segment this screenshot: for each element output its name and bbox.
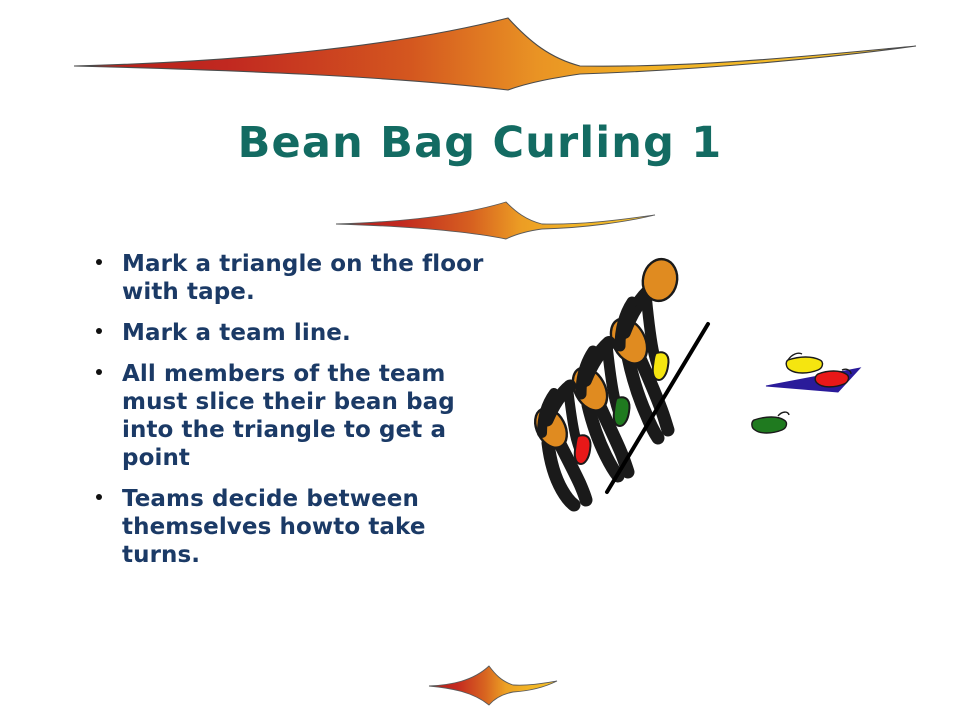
bean-bag-green-target — [752, 417, 787, 433]
bean-bag-curling-illustration — [520, 250, 920, 520]
bean-bag-red-target — [815, 371, 848, 387]
bullet-dot-icon — [96, 360, 122, 375]
bean-bag-red-held — [575, 435, 591, 464]
bottom-diamond-banner — [425, 660, 560, 710]
bullet-dot-icon — [96, 485, 122, 500]
bean-bag-green-held — [614, 397, 630, 426]
bullet-dot-icon — [96, 319, 122, 334]
list-item: All members of the team must slice their… — [96, 360, 496, 472]
bullet-text: All members of the team must slice their… — [122, 360, 496, 472]
page-title: Bean Bag Curling 1 — [0, 120, 960, 167]
bullet-dot-icon — [96, 250, 122, 265]
bullet-text: Mark a triangle on the floor with tape. — [122, 250, 496, 306]
list-item: Teams decide between themselves howto ta… — [96, 485, 496, 569]
bean-bag-yellow-held — [653, 352, 669, 380]
middle-diamond-banner — [330, 196, 660, 242]
bean-bag-yellow-target — [786, 357, 822, 373]
bullet-list: Mark a triangle on the floor with tape. … — [96, 250, 496, 582]
list-item: Mark a triangle on the floor with tape. — [96, 250, 496, 306]
top-diamond-banner — [60, 6, 930, 96]
bullet-text: Mark a team line. — [122, 319, 496, 347]
slide: Bean Bag Curling 1 Mark a triangle on th… — [0, 0, 960, 720]
bullet-text: Teams decide between themselves howto ta… — [122, 485, 496, 569]
list-item: Mark a team line. — [96, 319, 496, 347]
